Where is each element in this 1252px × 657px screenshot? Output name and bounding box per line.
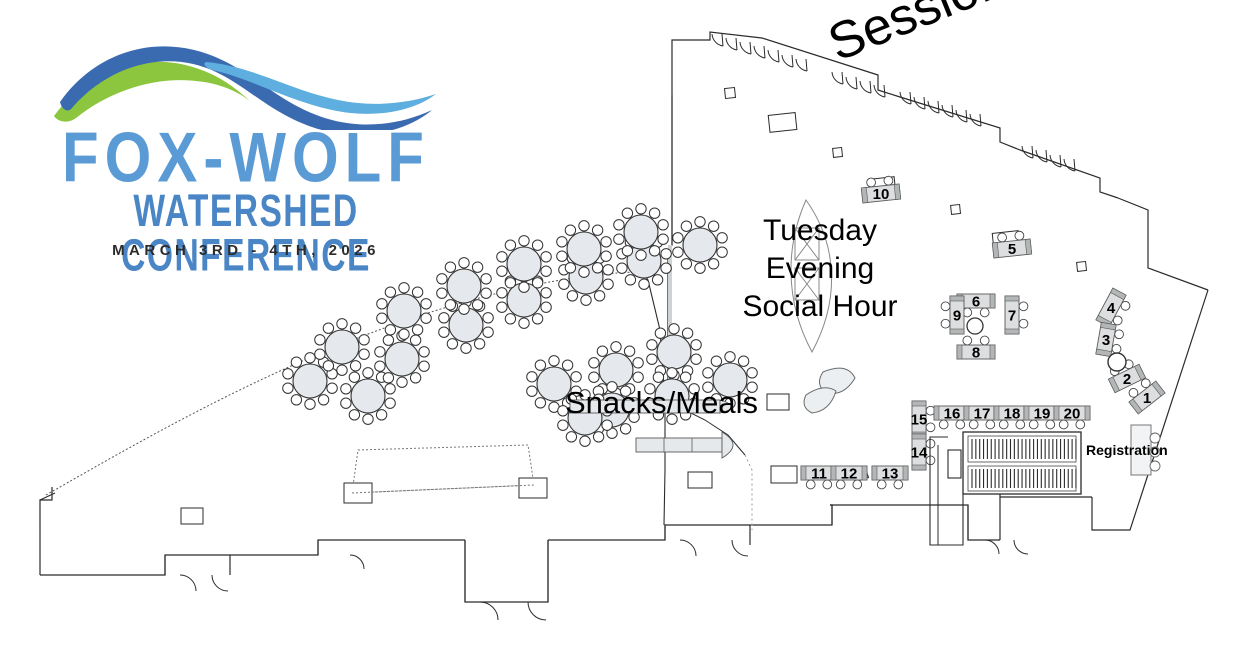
table-chair (519, 236, 529, 246)
table-chair (562, 360, 572, 370)
booth-number-6: 6 (972, 294, 980, 311)
table-chair (410, 373, 420, 383)
table-chair (557, 251, 567, 261)
booth-endcap (831, 466, 836, 480)
booth-chair (963, 336, 972, 345)
bottom-wall-alcoves (165, 505, 968, 602)
table-top (385, 342, 419, 376)
table-chair (708, 221, 718, 231)
booth-number-15: 15 (911, 412, 928, 429)
table-chair (447, 339, 457, 349)
round-table (614, 204, 669, 261)
cluster-center-table (967, 318, 983, 334)
table-chair (747, 368, 757, 378)
table-chair (691, 354, 701, 364)
booth-endcap (1024, 406, 1029, 420)
table-chair (481, 274, 491, 284)
table-chair (291, 395, 301, 405)
door-swings-bottom (180, 540, 1028, 620)
table-chair (667, 368, 677, 378)
booth-endcap (872, 466, 877, 480)
booth-endcap (964, 406, 969, 420)
table-chair (655, 328, 665, 338)
table-chair (305, 353, 315, 363)
table-top (293, 364, 327, 398)
label-social-hour-line3: Social Hour (740, 288, 900, 326)
booth-endcap (1005, 296, 1019, 301)
table-chair (363, 368, 373, 378)
booth-chair (1019, 319, 1028, 328)
table-chair (708, 259, 718, 269)
table-chair (376, 410, 386, 420)
tiered-seating-block (930, 432, 1081, 545)
table-chair (639, 279, 649, 289)
booth-number-19: 19 (1034, 406, 1051, 423)
table-chair (532, 314, 542, 324)
table-chair (603, 265, 613, 275)
booth-endcap (957, 345, 962, 359)
table-chair (658, 220, 668, 230)
table-chair (601, 251, 611, 261)
table-chair (472, 262, 482, 272)
table-chair (589, 372, 599, 382)
booth-number-10: 10 (873, 186, 890, 203)
table-chair (717, 233, 727, 243)
table-chair (315, 335, 325, 345)
booth-endcap (801, 466, 806, 480)
table-chair (283, 369, 293, 379)
table-chair (337, 365, 347, 375)
table-top (657, 335, 691, 369)
table-top (351, 379, 385, 413)
booth-number-20: 20 (1064, 406, 1081, 423)
table-chair (421, 299, 431, 309)
table-chair (399, 329, 409, 339)
table-chair (673, 233, 683, 243)
booth-chair (941, 302, 950, 311)
table-chair (647, 354, 657, 364)
booth-endcap (912, 401, 926, 406)
table-chair (633, 372, 643, 382)
table-chair (497, 302, 507, 312)
table-chair (579, 267, 589, 277)
label-social-hour: Tuesday Evening Social Hour (740, 212, 900, 326)
table-chair (567, 291, 577, 301)
table-chair (483, 313, 493, 323)
table-chair (593, 432, 603, 442)
table-chair (472, 300, 482, 310)
table-chair (337, 319, 347, 329)
rigging-dashed-zone (344, 445, 547, 503)
table-chair (505, 278, 515, 288)
booth-number-18: 18 (1004, 406, 1021, 423)
booth-chair (980, 308, 989, 317)
label-registration: Registration (1086, 442, 1168, 458)
booth-endcap (950, 329, 964, 334)
booth-number-12: 12 (841, 466, 858, 483)
table-chair (318, 395, 328, 405)
table-chair (375, 347, 385, 357)
table-chair (505, 240, 515, 250)
table-chair (383, 373, 393, 383)
table-chair (497, 266, 507, 276)
table-chair (703, 368, 713, 378)
table-chair (691, 340, 701, 350)
table-chair (385, 287, 395, 297)
table-chair (557, 237, 567, 247)
table-chair (341, 398, 351, 408)
table-chair (589, 358, 599, 368)
table-chair (421, 313, 431, 323)
booth-number-13: 13 (882, 466, 899, 483)
table-chair (549, 356, 559, 366)
curved-bar-feature (804, 368, 855, 413)
table-chair (437, 274, 447, 284)
booth-number-5: 5 (1008, 241, 1016, 258)
table-chair (614, 234, 624, 244)
table-chair (399, 283, 409, 293)
table-chair (377, 313, 387, 323)
table-chair (738, 356, 748, 366)
booth-number-3: 3 (1102, 332, 1110, 349)
booth-number-4: 4 (1107, 300, 1116, 317)
round-table (437, 258, 492, 315)
round-table (557, 221, 612, 278)
table-chair (625, 275, 635, 285)
table-top (567, 232, 601, 266)
table-chair (541, 302, 551, 312)
round-table (673, 217, 728, 274)
table-chair (359, 335, 369, 345)
label-social-hour-line1: Tuesday (740, 212, 900, 250)
booth-chair (884, 176, 894, 186)
booth-chair (997, 233, 1007, 243)
table-chair (571, 372, 581, 382)
floorplan-drawing: 1056897432111121315141617181920 (0, 0, 1252, 657)
booth-number-11: 11 (811, 466, 827, 483)
table-chair (383, 335, 393, 345)
table-chair (649, 246, 659, 256)
table-chair (532, 240, 542, 250)
table-chair (603, 279, 613, 289)
table-chair (559, 279, 569, 289)
booth-number-17: 17 (974, 406, 991, 423)
table-chair (505, 314, 515, 324)
table-chair (580, 436, 590, 446)
table-chair (681, 221, 691, 231)
round-table (315, 319, 370, 376)
booth-endcap (903, 466, 908, 480)
table-chair (527, 372, 537, 382)
table-chair (474, 339, 484, 349)
table-chair (445, 300, 455, 310)
table-chair (532, 278, 542, 288)
table-chair (541, 288, 551, 298)
table-chair (636, 250, 646, 260)
table-chair (565, 225, 575, 235)
table-chair (481, 288, 491, 298)
table-top (507, 247, 541, 281)
booth-endcap (1054, 406, 1059, 420)
booth-chair (926, 423, 935, 432)
booth-endcap (912, 465, 926, 470)
table-chair (658, 234, 668, 244)
table-chair (673, 247, 683, 257)
table-chair (566, 432, 576, 442)
booth-endcap (912, 434, 926, 439)
table-chair (682, 328, 692, 338)
table-chair (725, 352, 735, 362)
table-chair (385, 384, 395, 394)
table-chair (592, 225, 602, 235)
table-chair (483, 327, 493, 337)
table-chair (695, 217, 705, 227)
booth-endcap (994, 406, 999, 420)
round-table (377, 283, 432, 340)
table-chair (397, 377, 407, 387)
booth-chair (980, 336, 989, 345)
table-chair (565, 263, 575, 273)
table-chair (614, 220, 624, 230)
booth-endcap (1085, 406, 1090, 420)
table-top (387, 294, 421, 328)
table-chair (535, 360, 545, 370)
booth-number-2: 2 (1123, 371, 1131, 388)
table-chair (602, 420, 612, 430)
table-chair (291, 357, 301, 367)
table-chair (497, 288, 507, 298)
table-chair (535, 398, 545, 408)
table-chair (497, 252, 507, 262)
table-chair (410, 335, 420, 345)
table-chair (445, 262, 455, 272)
booth-number-14: 14 (911, 445, 928, 462)
table-top (599, 353, 633, 387)
table-chair (385, 398, 395, 408)
round-table (497, 236, 552, 293)
table-chair (579, 221, 589, 231)
table-chair (377, 299, 387, 309)
label-social-hour-line2: Evening (740, 250, 900, 288)
table-chair (541, 266, 551, 276)
table-top (683, 228, 717, 262)
table-chair (459, 304, 469, 314)
table-chair (592, 263, 602, 273)
booth-endcap (862, 466, 867, 480)
table-top (325, 330, 359, 364)
table-chair (439, 313, 449, 323)
table-top (447, 269, 481, 303)
table-chair (558, 420, 568, 430)
booth-chair (1019, 302, 1028, 311)
booth-3[interactable] (1096, 322, 1125, 358)
table-chair (649, 208, 659, 218)
table-chair (315, 349, 325, 359)
table-chair (412, 325, 422, 335)
table-chair (661, 263, 671, 273)
table-chair (681, 259, 691, 269)
table-chair (412, 287, 422, 297)
table-chair (617, 263, 627, 273)
table-chair (519, 282, 529, 292)
table-chair (327, 383, 337, 393)
table-chair (385, 325, 395, 335)
table-chair (653, 372, 663, 382)
table-chair (622, 246, 632, 256)
booth-number-7: 7 (1008, 308, 1016, 325)
table-chair (711, 356, 721, 366)
table-chair (519, 318, 529, 328)
floorplan-page: FOX-WOLF WATERSHED CONFERENCE MARCH 3RD … (0, 0, 1252, 657)
table-chair (350, 361, 360, 371)
label-snacks-meals: Snacks/Meals (565, 385, 758, 421)
table-chair (624, 346, 634, 356)
table-chair (323, 323, 333, 333)
partition-dashed-vertical (745, 455, 752, 530)
table-chair (341, 384, 351, 394)
table-chair (717, 247, 727, 257)
table-chair (375, 361, 385, 371)
table-chair (620, 424, 630, 434)
table-chair (581, 295, 591, 305)
table-chair (597, 346, 607, 356)
booth-endcap (934, 406, 939, 420)
booth-number-9: 9 (953, 308, 961, 325)
table-chair (541, 252, 551, 262)
table-chair (439, 327, 449, 337)
booth-endcap (990, 345, 995, 359)
booth-endcap (990, 294, 995, 308)
table-chair (459, 258, 469, 268)
table-chair (633, 358, 643, 368)
table-top (624, 215, 658, 249)
table-chair (622, 208, 632, 218)
table-chair (283, 383, 293, 393)
table-chair (661, 249, 671, 259)
table-chair (611, 342, 621, 352)
table-chair (323, 361, 333, 371)
arc-center-table (1108, 353, 1126, 371)
table-chair (695, 263, 705, 273)
table-chair (652, 275, 662, 285)
table-chair (419, 361, 429, 371)
booth-number-16: 16 (944, 406, 961, 423)
table-chair (647, 340, 657, 350)
table-chair (363, 414, 373, 424)
booth-number-1: 1 (1143, 390, 1151, 407)
table-chair (349, 372, 359, 382)
table-chair (349, 410, 359, 420)
booth-endcap (1005, 329, 1019, 334)
table-chair (350, 323, 360, 333)
table-chair (527, 386, 537, 396)
table-chair (636, 204, 646, 214)
table-chair (594, 291, 604, 301)
booth-chair (1015, 231, 1025, 241)
table-chair (669, 324, 679, 334)
table-chair (461, 343, 471, 353)
building-outline (40, 32, 1208, 602)
table-chair (305, 399, 315, 409)
buffet-table-lower (636, 432, 733, 458)
booth-endcap (950, 296, 964, 301)
table-chair (437, 288, 447, 298)
table-chair (601, 237, 611, 247)
table-chair (419, 347, 429, 357)
table-chair (680, 372, 690, 382)
booth-chair (941, 319, 950, 328)
booth-number-8: 8 (972, 345, 980, 362)
table-chair (359, 349, 369, 359)
